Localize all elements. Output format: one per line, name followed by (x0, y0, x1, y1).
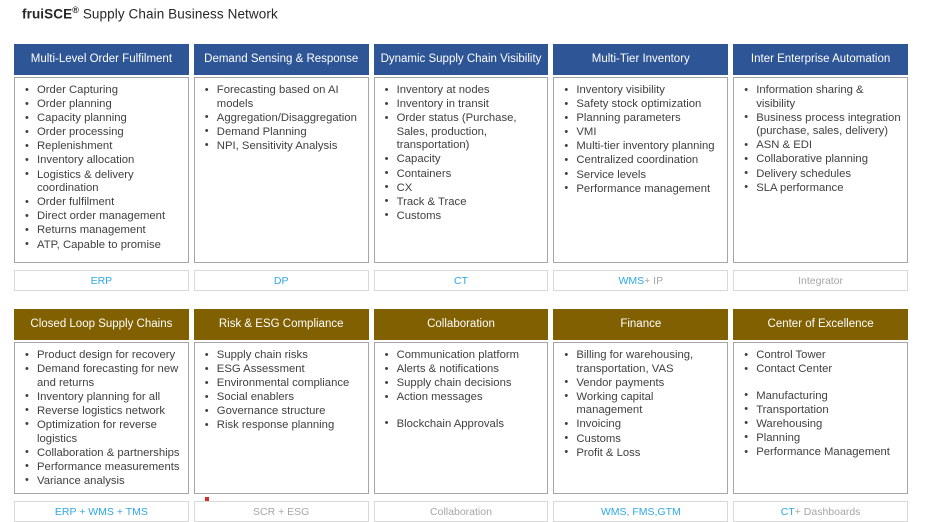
card-row-1: Multi-Level Order FulfilmentOrder Captur… (14, 44, 908, 291)
capability-list: Supply chain risksESG AssessmentEnvironm… (197, 349, 362, 433)
list-item: Multi-tier inventory planning (556, 140, 721, 154)
list-item: Planning (736, 432, 901, 446)
card-body: Control TowerContact CenterManufacturing… (733, 342, 908, 494)
list-item: Aggregation/Disaggregation (197, 112, 362, 126)
list-item: Business process integration (purchase, … (736, 112, 901, 139)
footer-accent-label: ERP + WMS + TMS (55, 506, 148, 518)
list-item: Environmental compliance (197, 377, 362, 391)
card-body: Order CapturingOrder planningCapacity pl… (14, 77, 189, 263)
list-item: Supply chain risks (197, 349, 362, 363)
page-title: fruiSCE® Supply Chain Business Network (22, 5, 278, 22)
capability-list: Communication platformAlerts & notificat… (377, 349, 542, 431)
list-item: Customs (556, 433, 721, 447)
list-item: Performance management (556, 183, 721, 197)
list-item: Logistics & delivery coordination (17, 169, 182, 196)
card-body: Product design for recoveryDemand foreca… (14, 342, 189, 494)
list-item: Billing for warehousing, transportation,… (556, 349, 721, 376)
list-item: Information sharing & visibility (736, 84, 901, 111)
list-item: Collaboration & partnerships (17, 447, 182, 461)
card-footer[interactable]: CT (374, 270, 549, 291)
list-item: ATP, Capable to promise (17, 239, 182, 253)
list-item: Manufacturing (736, 390, 901, 404)
card-body: Inventory at nodesInventory in transitOr… (374, 77, 549, 263)
list-item: Vendor payments (556, 377, 721, 391)
capability-list: Order CapturingOrder planningCapacity pl… (17, 84, 182, 252)
list-item: Order processing (17, 126, 182, 140)
list-item: Governance structure (197, 405, 362, 419)
list-item: Replenishment (17, 140, 182, 154)
list-item: Performance measurements (17, 461, 182, 475)
list-item: Planning parameters (556, 112, 721, 126)
list-item: Inventory in transit (377, 98, 542, 112)
list-item: Inventory at nodes (377, 84, 542, 98)
card-header: Inter Enterprise Automation (733, 44, 908, 75)
list-item: Control Tower (736, 349, 901, 363)
footer-plain-label: SCR + ESG (253, 506, 309, 518)
footer-accent-label: DP (274, 275, 289, 287)
list-item: Warehousing (736, 418, 901, 432)
list-item: ESG Assessment (197, 363, 362, 377)
registered-mark-icon: ® (72, 5, 79, 15)
list-item: Forecasting based on AI models (197, 84, 362, 111)
list-item: Safety stock optimization (556, 98, 721, 112)
capability-list: Information sharing & visibilityBusiness… (736, 84, 901, 195)
list-item: Profit & Loss (556, 447, 721, 461)
red-marker-icon (205, 497, 209, 501)
list-item: Blockchain Approvals (377, 418, 542, 432)
list-item: ASN & EDI (736, 139, 901, 153)
footer-plain-label: + Dashboards (795, 506, 861, 518)
capability-list: Forecasting based on AI modelsAggregatio… (197, 84, 362, 153)
capability-card[interactable]: Center of ExcellenceControl TowerContact… (733, 309, 908, 522)
list-item: Alerts & notifications (377, 363, 542, 377)
list-item: Order status (Purchase, Sales, productio… (377, 112, 542, 153)
list-item: Returns management (17, 224, 182, 238)
list-item: Inventory allocation (17, 154, 182, 168)
card-body: Communication platformAlerts & notificat… (374, 342, 549, 494)
card-footer[interactable]: DP (194, 270, 369, 291)
card-header: Risk & ESG Compliance (194, 309, 369, 340)
card-row-2: Closed Loop Supply ChainsProduct design … (14, 309, 908, 522)
list-item: Contact Center (736, 363, 901, 377)
list-item: Order Capturing (17, 84, 182, 98)
list-item: Customs (377, 210, 542, 224)
list-item: Product design for recovery (17, 349, 182, 363)
list-item: Collaborative planning (736, 153, 901, 167)
list-item: Delivery schedules (736, 168, 901, 182)
list-item: Risk response planning (197, 419, 362, 433)
list-item: SLA performance (736, 182, 901, 196)
footer-accent-label: ERP (91, 275, 113, 287)
footer-plain-label: + IP (644, 275, 663, 287)
list-item: Centralized coordination (556, 154, 721, 168)
list-item: Working capital management (556, 391, 721, 418)
card-header: Multi-Tier Inventory (553, 44, 728, 75)
capability-card[interactable]: Inter Enterprise AutomationInformation s… (733, 44, 908, 291)
card-header: Dynamic Supply Chain Visibility (374, 44, 549, 75)
card-footer[interactable]: WMS + IP (553, 270, 728, 291)
card-header: Collaboration (374, 309, 549, 340)
list-item: Service levels (556, 169, 721, 183)
list-item: Communication platform (377, 349, 542, 363)
capability-list: Inventory visibilitySafety stock optimiz… (556, 84, 721, 196)
list-item: Demand forecasting for new and returns (17, 363, 182, 390)
card-footer[interactable]: Integrator (733, 270, 908, 291)
list-item: NPI, Sensitivity Analysis (197, 140, 362, 154)
card-body: Forecasting based on AI modelsAggregatio… (194, 77, 369, 263)
card-body: Billing for warehousing, transportation,… (553, 342, 728, 494)
capability-card[interactable]: Risk & ESG ComplianceSupply chain risksE… (194, 309, 369, 522)
card-header: Finance (553, 309, 728, 340)
card-header: Center of Excellence (733, 309, 908, 340)
brand-name: fruiSCE (22, 7, 72, 22)
list-item: Track & Trace (377, 196, 542, 210)
footer-accent-label: CT (781, 506, 795, 518)
list-item: Transportation (736, 404, 901, 418)
footer-accent-label: WMS (618, 275, 644, 287)
footer-plain-label: Collaboration (430, 506, 492, 518)
list-item: Capacity planning (17, 112, 182, 126)
card-body: Supply chain risksESG AssessmentEnvironm… (194, 342, 369, 494)
card-header: Multi-Level Order Fulfilment (14, 44, 189, 75)
footer-accent-label: CT (454, 275, 468, 287)
list-item: Capacity (377, 153, 542, 167)
capability-board: Multi-Level Order FulfilmentOrder Captur… (14, 44, 908, 522)
capability-card[interactable]: Dynamic Supply Chain VisibilityInventory… (374, 44, 549, 291)
capability-card[interactable]: Multi-Tier InventoryInventory visibility… (553, 44, 728, 291)
card-body: Inventory visibilitySafety stock optimiz… (553, 77, 728, 263)
list-item: Variance analysis (17, 475, 182, 489)
capability-card[interactable]: Multi-Level Order FulfilmentOrder Captur… (14, 44, 189, 291)
list-item: Reverse logistics network (17, 405, 182, 419)
list-item: Demand Planning (197, 126, 362, 140)
capability-card[interactable]: FinanceBilling for warehousing, transpor… (553, 309, 728, 522)
list-spacer (377, 405, 542, 417)
list-spacer (736, 377, 901, 389)
list-item: Social enablers (197, 391, 362, 405)
card-header: Demand Sensing & Response (194, 44, 369, 75)
card-footer[interactable]: ERP (14, 270, 189, 291)
list-item: VMI (556, 126, 721, 140)
card-header: Closed Loop Supply Chains (14, 309, 189, 340)
list-item: Supply chain decisions (377, 377, 542, 391)
list-item: Action messages (377, 391, 542, 405)
list-item: Order fulfilment (17, 196, 182, 210)
card-body: Information sharing & visibilityBusiness… (733, 77, 908, 263)
capability-card[interactable]: CollaborationCommunication platformAlert… (374, 309, 549, 522)
list-item: Performance Management (736, 446, 901, 460)
list-item: Inventory visibility (556, 84, 721, 98)
capability-list: Product design for recoveryDemand foreca… (17, 349, 182, 488)
footer-accent-label: WMS, FMS,GTM (601, 506, 681, 518)
list-item: Containers (377, 168, 542, 182)
list-item: Invoicing (556, 418, 721, 432)
page-title-text: Supply Chain Business Network (83, 7, 278, 22)
capability-list: Billing for warehousing, transportation,… (556, 349, 721, 460)
list-item: Direct order management (17, 210, 182, 224)
list-item: Optimization for reverse logistics (17, 419, 182, 446)
list-item: Inventory planning for all (17, 391, 182, 405)
capability-card[interactable]: Demand Sensing & ResponseForecasting bas… (194, 44, 369, 291)
footer-plain-label: Integrator (798, 275, 843, 287)
capability-list: Inventory at nodesInventory in transitOr… (377, 84, 542, 223)
list-item: CX (377, 182, 542, 196)
capability-list: Control TowerContact CenterManufacturing… (736, 349, 901, 460)
capability-card[interactable]: Closed Loop Supply ChainsProduct design … (14, 309, 189, 522)
list-item: Order planning (17, 98, 182, 112)
